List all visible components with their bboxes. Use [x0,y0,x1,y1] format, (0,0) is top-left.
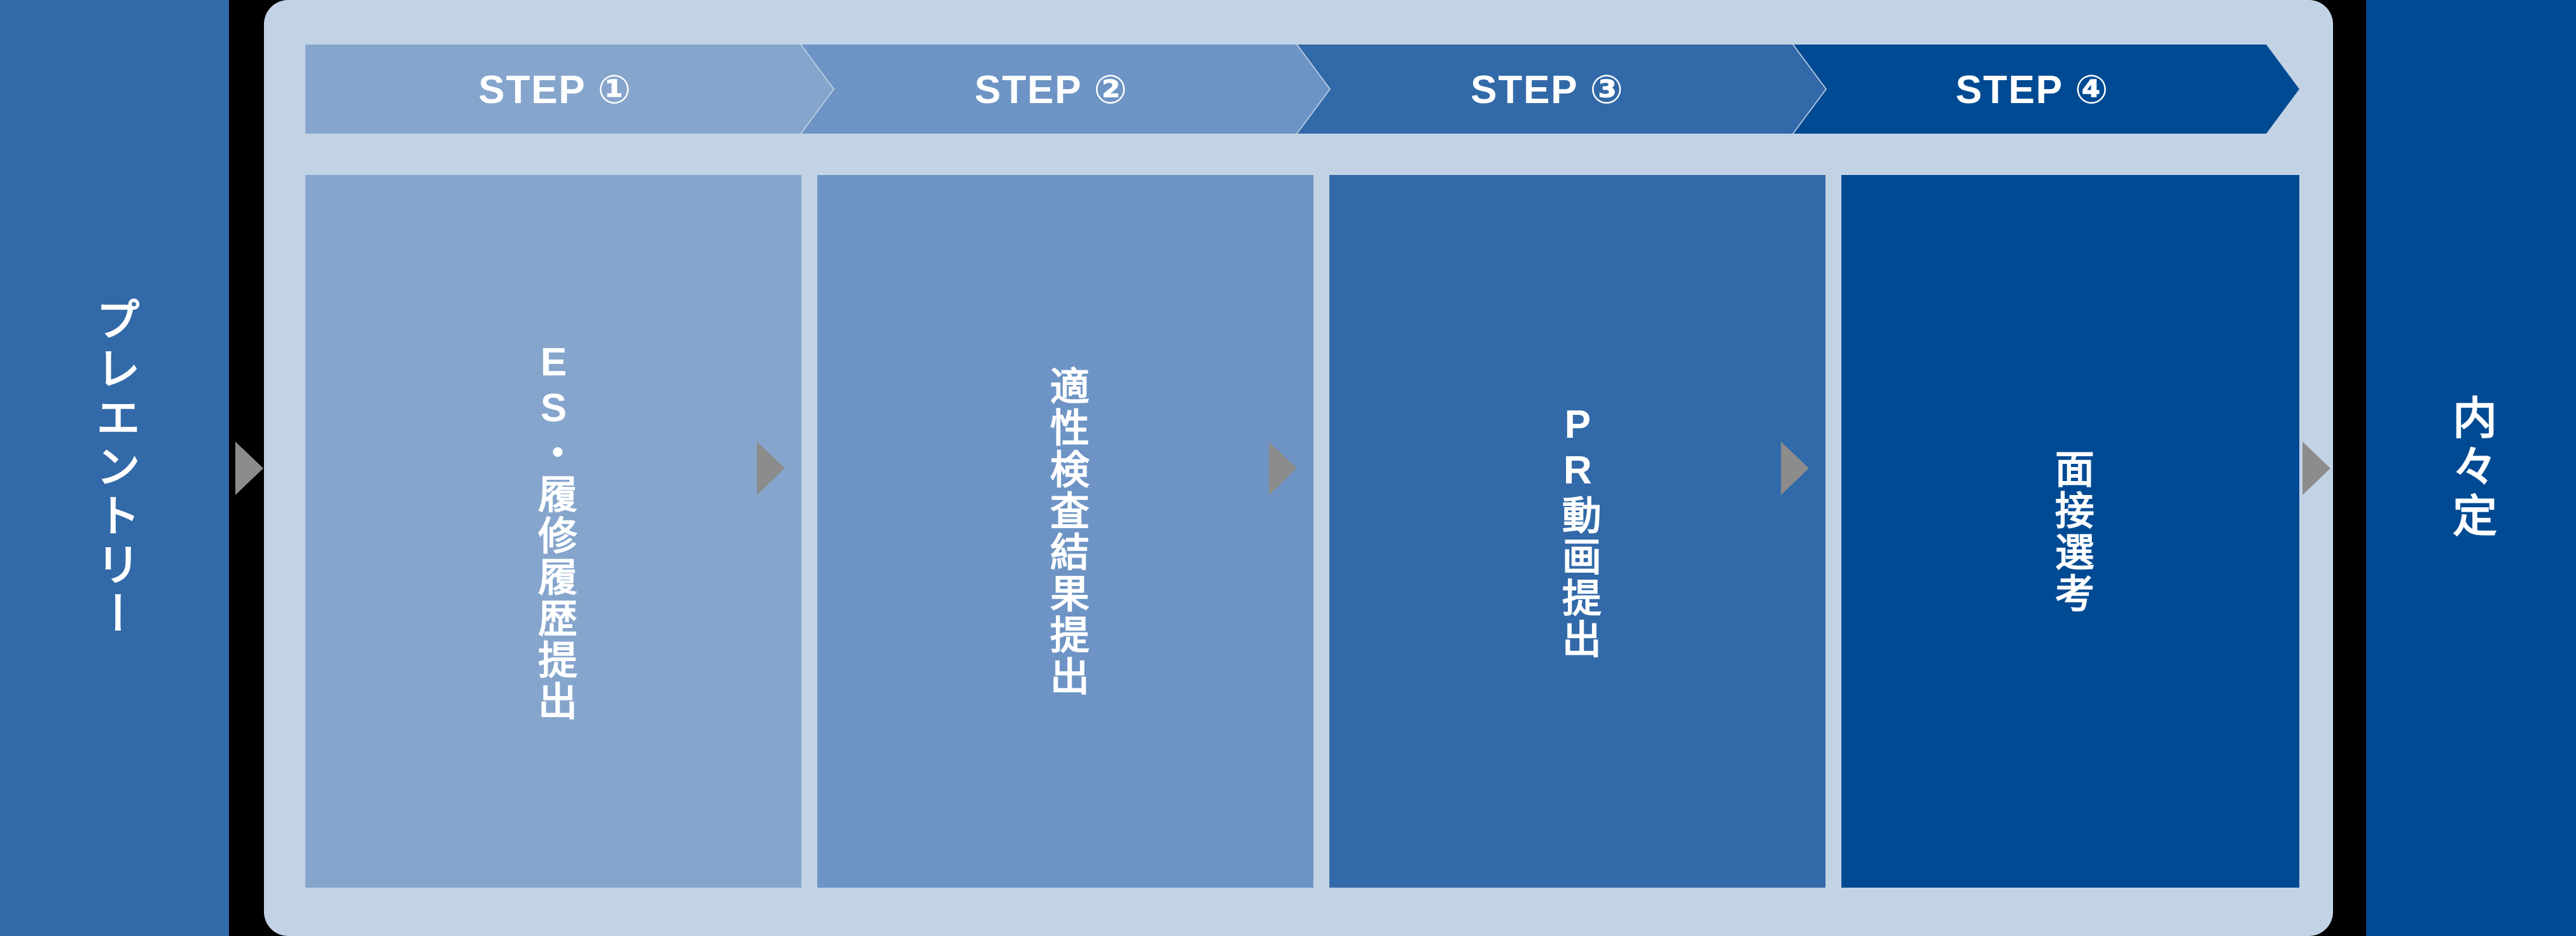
step-header-label-2: STEP ② [974,66,1128,113]
step-card-3[interactable]: PR動画提出 [1329,175,1825,888]
offer-label: 内々定 [2442,395,2500,541]
connector-step2-to-step3-arrow-icon [1269,442,1297,495]
step-card-1[interactable]: ES・履修履歴提出 [305,175,801,888]
step-card-2[interactable]: 適性検査結果提出 [817,175,1313,888]
step-header-1[interactable]: STEP ① [305,45,833,134]
connector-pre-to-step1-arrow-icon [235,442,263,495]
step-card-4[interactable]: 面接選考 [1841,175,2299,888]
step-card-label-2: 適性検査結果提出 [1039,366,1091,697]
connector-step3-to-step4-arrow-icon [1781,442,1809,495]
step-header-label-1: STEP ① [478,66,632,113]
offer-panel: 内々定 [2366,0,2576,936]
flow-container: STEP ①STEP ②STEP ③STEP ④ ES・履修履歴提出適性検査結果… [264,0,2333,936]
step-card-label-3: PR動画提出 [1551,403,1603,660]
step-card-label-1: ES・履修履歴提出 [527,340,579,722]
pre-entry-panel: プレエントリー [0,0,229,936]
pre-entry-label: プレエントリー [86,297,144,639]
step-header-label-4: STEP ④ [1956,66,2110,113]
step-cards-row: ES・履修履歴提出適性検査結果提出PR動画提出面接選考 [305,175,2299,888]
selection-flow-diagram: プレエントリー STEP ①STEP ②STEP ③STEP ④ ES・履修履歴… [0,0,2576,936]
step-card-label-4: 面接選考 [2044,449,2096,614]
step-header-3[interactable]: STEP ③ [1298,45,1825,134]
step-header-label-3: STEP ③ [1471,66,1624,113]
connector-step4-to-post-arrow-icon [2302,442,2330,495]
step-header-4[interactable]: STEP ④ [1794,45,2299,134]
connector-step1-to-step2-arrow-icon [757,442,785,495]
step-header-band: STEP ①STEP ②STEP ③STEP ④ [305,45,2299,134]
step-header-2[interactable]: STEP ② [801,45,1329,134]
